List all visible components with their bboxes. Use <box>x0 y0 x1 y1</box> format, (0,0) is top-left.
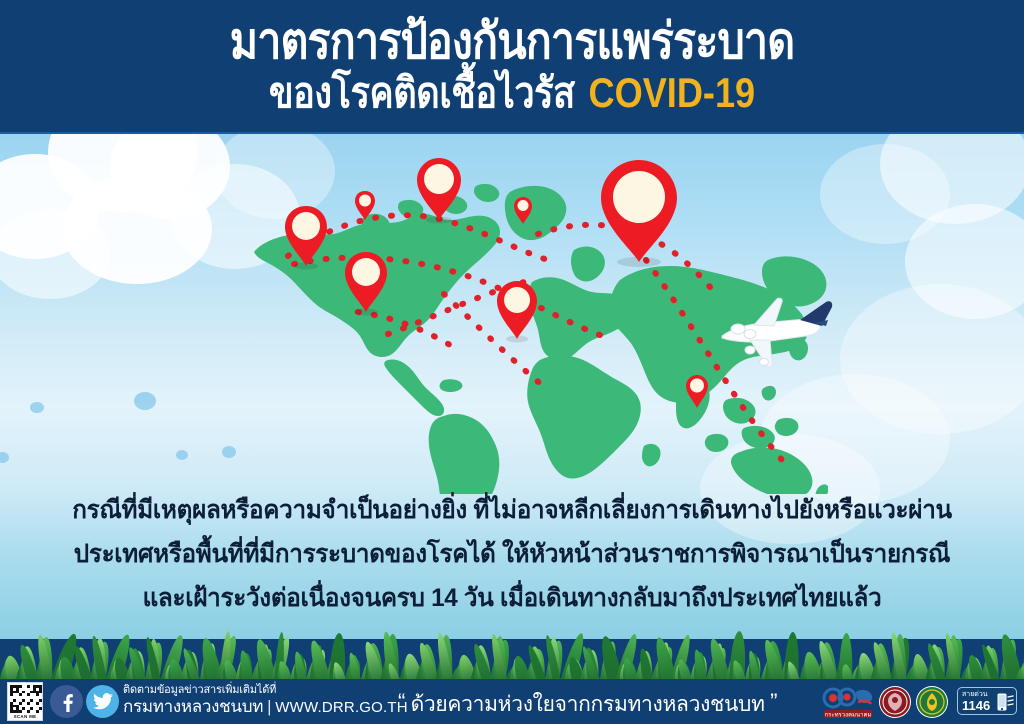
decorative-dot <box>176 450 188 460</box>
ministry-of-transport-seal: กระทรวงคมนาคม <box>822 684 874 720</box>
footer-separator: | <box>267 697 271 716</box>
care-tagline: “ ด้วยความห่วงใยจากกรมทางหลวงชนบท ” <box>398 688 777 718</box>
follow-info: ติดตามข้อมูลข่าวสารเพิ่มเติมได้ที่ กรมทา… <box>123 684 408 718</box>
quote-open: “ <box>398 689 405 714</box>
map-pin-medium[interactable] <box>283 204 329 270</box>
hotline-badge[interactable]: สายด่วน 1146 <box>957 687 1017 715</box>
garuda-red-seal <box>878 685 912 719</box>
map-pin-small[interactable] <box>513 196 533 226</box>
page-title-line1: มาตรการป้องกันการแพร่ระบาด <box>72 0 953 68</box>
website-url[interactable]: WWW.DRR.GO.TH <box>275 699 408 716</box>
facebook-icon[interactable] <box>50 685 83 718</box>
qr-code-pattern <box>10 685 42 713</box>
footer-bar: SCAN ME ติดตามข้อมูลข่าวสารเพิ่มเติมได้ท… <box>0 679 1024 724</box>
covid-label: COVID-19 <box>589 69 756 116</box>
body-line-1: กรณีที่มีเหตุผลหรือความจำเป็นอย่างยิ่ง ท… <box>15 488 1008 532</box>
org-and-website: กรมทางหลวงชนบท|WWW.DRR.GO.TH <box>123 697 408 718</box>
org-name: กรมทางหลวงชนบท <box>123 697 263 716</box>
svg-text:กระทรวงคมนาคม: กระทรวงคมนาคม <box>825 711 872 718</box>
map-pin-medium[interactable] <box>415 156 463 224</box>
decorative-dot <box>0 452 9 463</box>
page-title-subject: ของโรคติดเชื้อไวรัส <box>269 69 575 116</box>
decorative-dot <box>30 402 44 413</box>
qr-code-label: SCAN ME <box>10 713 40 720</box>
hotline-number: 1146 <box>962 698 990 713</box>
quote-close: ” <box>770 689 777 714</box>
map-pin-large[interactable] <box>598 158 680 268</box>
poster-root: มาตรการป้องกันการแพร่ระบาด ของโรคติดเชื้… <box>0 0 1024 724</box>
decorative-dot <box>222 446 236 458</box>
body-paragraph: กรณีที่มีเหตุผลหรือความจำเป็นอย่างยิ่ง ท… <box>0 488 1024 620</box>
twitter-icon[interactable] <box>86 685 119 718</box>
grass-strip <box>0 626 1024 682</box>
map-pin-medium[interactable] <box>495 279 539 343</box>
body-line-2: ประเทศหรือพื้นที่ที่มีการระบาดของโรคได้ … <box>15 532 1008 576</box>
illustration-area: กรณีที่มีเหตุผลหรือความจำเป็นอย่างยิ่ง ท… <box>0 134 1024 639</box>
tagline-text: ด้วยความห่วงใยจากกรมทางหลวงชนบท <box>411 693 765 716</box>
qr-code[interactable]: SCAN ME <box>7 682 43 721</box>
airplane-icon <box>714 292 834 374</box>
body-line-3: และเฝ้าระวังต่อเนื่องจนครบ 14 วัน เมื่อเ… <box>15 576 1008 620</box>
cloud-shape <box>0 209 110 299</box>
map-pin-small[interactable] <box>354 190 376 222</box>
map-pin-medium[interactable] <box>343 250 389 316</box>
phone-icon <box>992 691 1014 713</box>
map-pin-small[interactable] <box>685 374 709 410</box>
department-green-seal <box>915 685 949 719</box>
page-title-line2: ของโรคติดเชื้อไวรัสCOVID-19 <box>72 68 953 116</box>
follow-prompt: ติดตามข้อมูลข่าวสารเพิ่มเติมได้ที่ <box>123 684 408 697</box>
decorative-dot <box>134 392 156 410</box>
header-banner: มาตรการป้องกันการแพร่ระบาด ของโรคติดเชื้… <box>0 0 1024 134</box>
